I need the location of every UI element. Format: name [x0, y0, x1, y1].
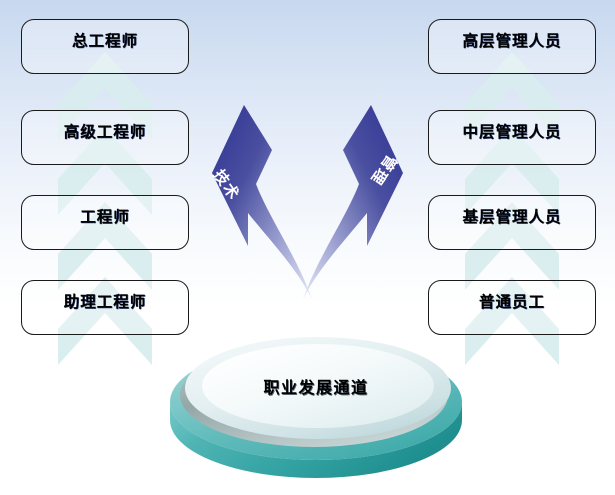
left-track-label-4: 助理工程师: [64, 295, 147, 311]
right-track-label-3: 基层管理人员: [462, 210, 561, 226]
arrow-right-label: 管理: [367, 151, 398, 187]
right-track-box-3[interactable]: 基层管理人员: [428, 195, 596, 250]
left-track-box-2[interactable]: 高级工程师: [21, 110, 189, 165]
right-track-label-1: 高层管理人员: [462, 34, 561, 50]
base-cylinder-label: 职业发展通道: [168, 374, 464, 398]
left-track-label-2: 高级工程师: [64, 125, 147, 141]
base-cylinder[interactable]: [168, 332, 464, 484]
left-track-box-3[interactable]: 工程师: [21, 195, 189, 250]
right-track-box-1[interactable]: 高层管理人员: [428, 19, 596, 74]
left-track-box-4[interactable]: 助理工程师: [21, 280, 189, 335]
left-track-label-1: 总工程师: [72, 34, 138, 50]
right-track-box-2[interactable]: 中层管理人员: [428, 110, 596, 165]
right-track-box-4[interactable]: 普通员工: [428, 280, 596, 335]
right-track-label-2: 中层管理人员: [462, 125, 561, 141]
arrow-right-shape: [303, 105, 403, 300]
left-track-box-1[interactable]: 总工程师: [21, 19, 189, 74]
right-track-label-4: 普通员工: [479, 295, 545, 311]
diagram-canvas: 技术 管理 总工程师 高级工程师 工程师 助理工程师 高层管理人员 中层管理人员…: [0, 0, 615, 495]
left-track-label-3: 工程师: [80, 210, 130, 226]
arrow-left-label: 技术: [210, 168, 241, 204]
